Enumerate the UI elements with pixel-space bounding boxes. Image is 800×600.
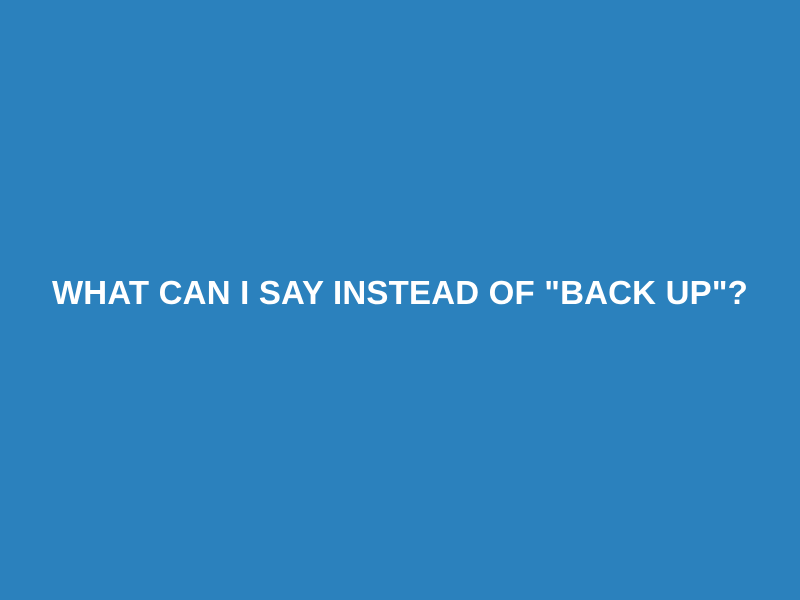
featured-image-banner: WHAT CAN I SAY INSTEAD OF "BACK UP"?	[0, 0, 800, 600]
headline-block: WHAT CAN I SAY INSTEAD OF "BACK UP"?	[0, 0, 800, 600]
page-title: WHAT CAN I SAY INSTEAD OF "BACK UP"?	[52, 274, 748, 312]
